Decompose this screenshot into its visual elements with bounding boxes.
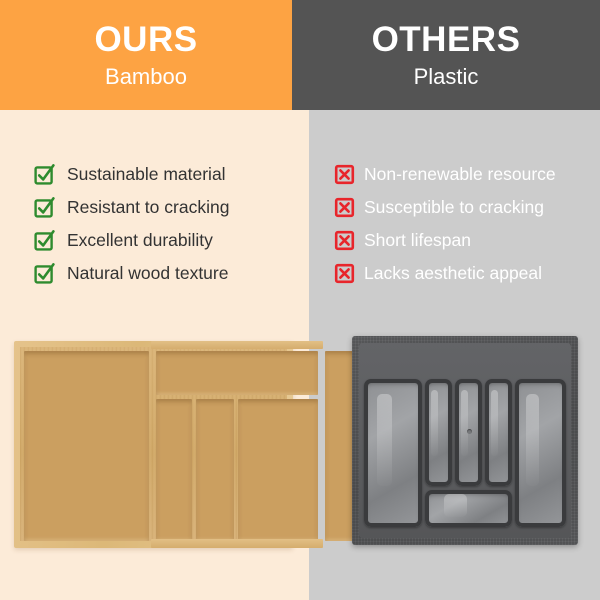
right-feature-list: Non-renewable resource Susceptible to cr… bbox=[334, 158, 556, 290]
check-box-icon bbox=[34, 164, 55, 185]
right-header-title: OTHERS bbox=[372, 22, 521, 59]
list-item-label: Non-renewable resource bbox=[364, 166, 556, 184]
bamboo-compartment-slot-1 bbox=[156, 399, 192, 541]
left-header-subtitle: Bamboo bbox=[105, 65, 187, 88]
list-item: Non-renewable resource bbox=[334, 158, 556, 191]
bamboo-tray-inner bbox=[20, 347, 287, 541]
left-header-title: OURS bbox=[94, 22, 197, 59]
plastic-compartment-right bbox=[515, 379, 566, 527]
list-item-label: Resistant to cracking bbox=[67, 199, 229, 217]
list-item-label: Short lifespan bbox=[364, 232, 471, 250]
cross-box-icon bbox=[334, 164, 355, 185]
cross-box-icon bbox=[334, 263, 355, 284]
left-column-header: OURS Bamboo bbox=[0, 0, 292, 110]
bamboo-compartment-left bbox=[24, 351, 149, 541]
plastic-compartment-slot-3 bbox=[485, 379, 512, 486]
plastic-compartment-slot-1 bbox=[425, 379, 452, 486]
cross-box-icon bbox=[334, 197, 355, 218]
left-feature-list: Sustainable material Resistant to cracki… bbox=[34, 158, 229, 290]
bamboo-compartment-center-top bbox=[156, 351, 318, 395]
list-item: Excellent durability bbox=[34, 224, 229, 257]
check-box-icon bbox=[34, 230, 55, 251]
plastic-tray-lip bbox=[359, 343, 571, 538]
list-item: Natural wood texture bbox=[34, 257, 229, 290]
plastic-compartment-left bbox=[364, 379, 422, 527]
list-item: Resistant to cracking bbox=[34, 191, 229, 224]
list-item-label: Susceptible to cracking bbox=[364, 199, 544, 217]
check-box-icon bbox=[34, 263, 55, 284]
list-item-label: Natural wood texture bbox=[67, 265, 228, 283]
right-column-header: OTHERS Plastic bbox=[292, 0, 600, 110]
list-item: Short lifespan bbox=[334, 224, 556, 257]
list-item: Sustainable material bbox=[34, 158, 229, 191]
cross-box-icon bbox=[334, 230, 355, 251]
list-item-label: Excellent durability bbox=[67, 232, 213, 250]
list-item-label: Sustainable material bbox=[67, 166, 226, 184]
list-item-label: Lacks aesthetic appeal bbox=[364, 265, 542, 283]
plastic-drawer-organizer bbox=[352, 336, 578, 545]
bamboo-drawer-organizer bbox=[14, 341, 293, 548]
list-item: Susceptible to cracking bbox=[334, 191, 556, 224]
right-header-subtitle: Plastic bbox=[414, 65, 479, 88]
list-item: Lacks aesthetic appeal bbox=[334, 257, 556, 290]
plastic-mold-dot bbox=[467, 429, 472, 434]
bamboo-compartment-slot-2 bbox=[196, 399, 234, 541]
comparison-infographic: OURS Bamboo OTHERS Plastic Sustainable m… bbox=[0, 0, 600, 600]
plastic-compartment-bottom bbox=[425, 490, 512, 527]
check-box-icon bbox=[34, 197, 55, 218]
bamboo-expansion-tab-bottom bbox=[151, 539, 323, 548]
bamboo-compartment-slot-3 bbox=[238, 399, 318, 541]
bamboo-expansion-tab-top bbox=[151, 341, 323, 349]
